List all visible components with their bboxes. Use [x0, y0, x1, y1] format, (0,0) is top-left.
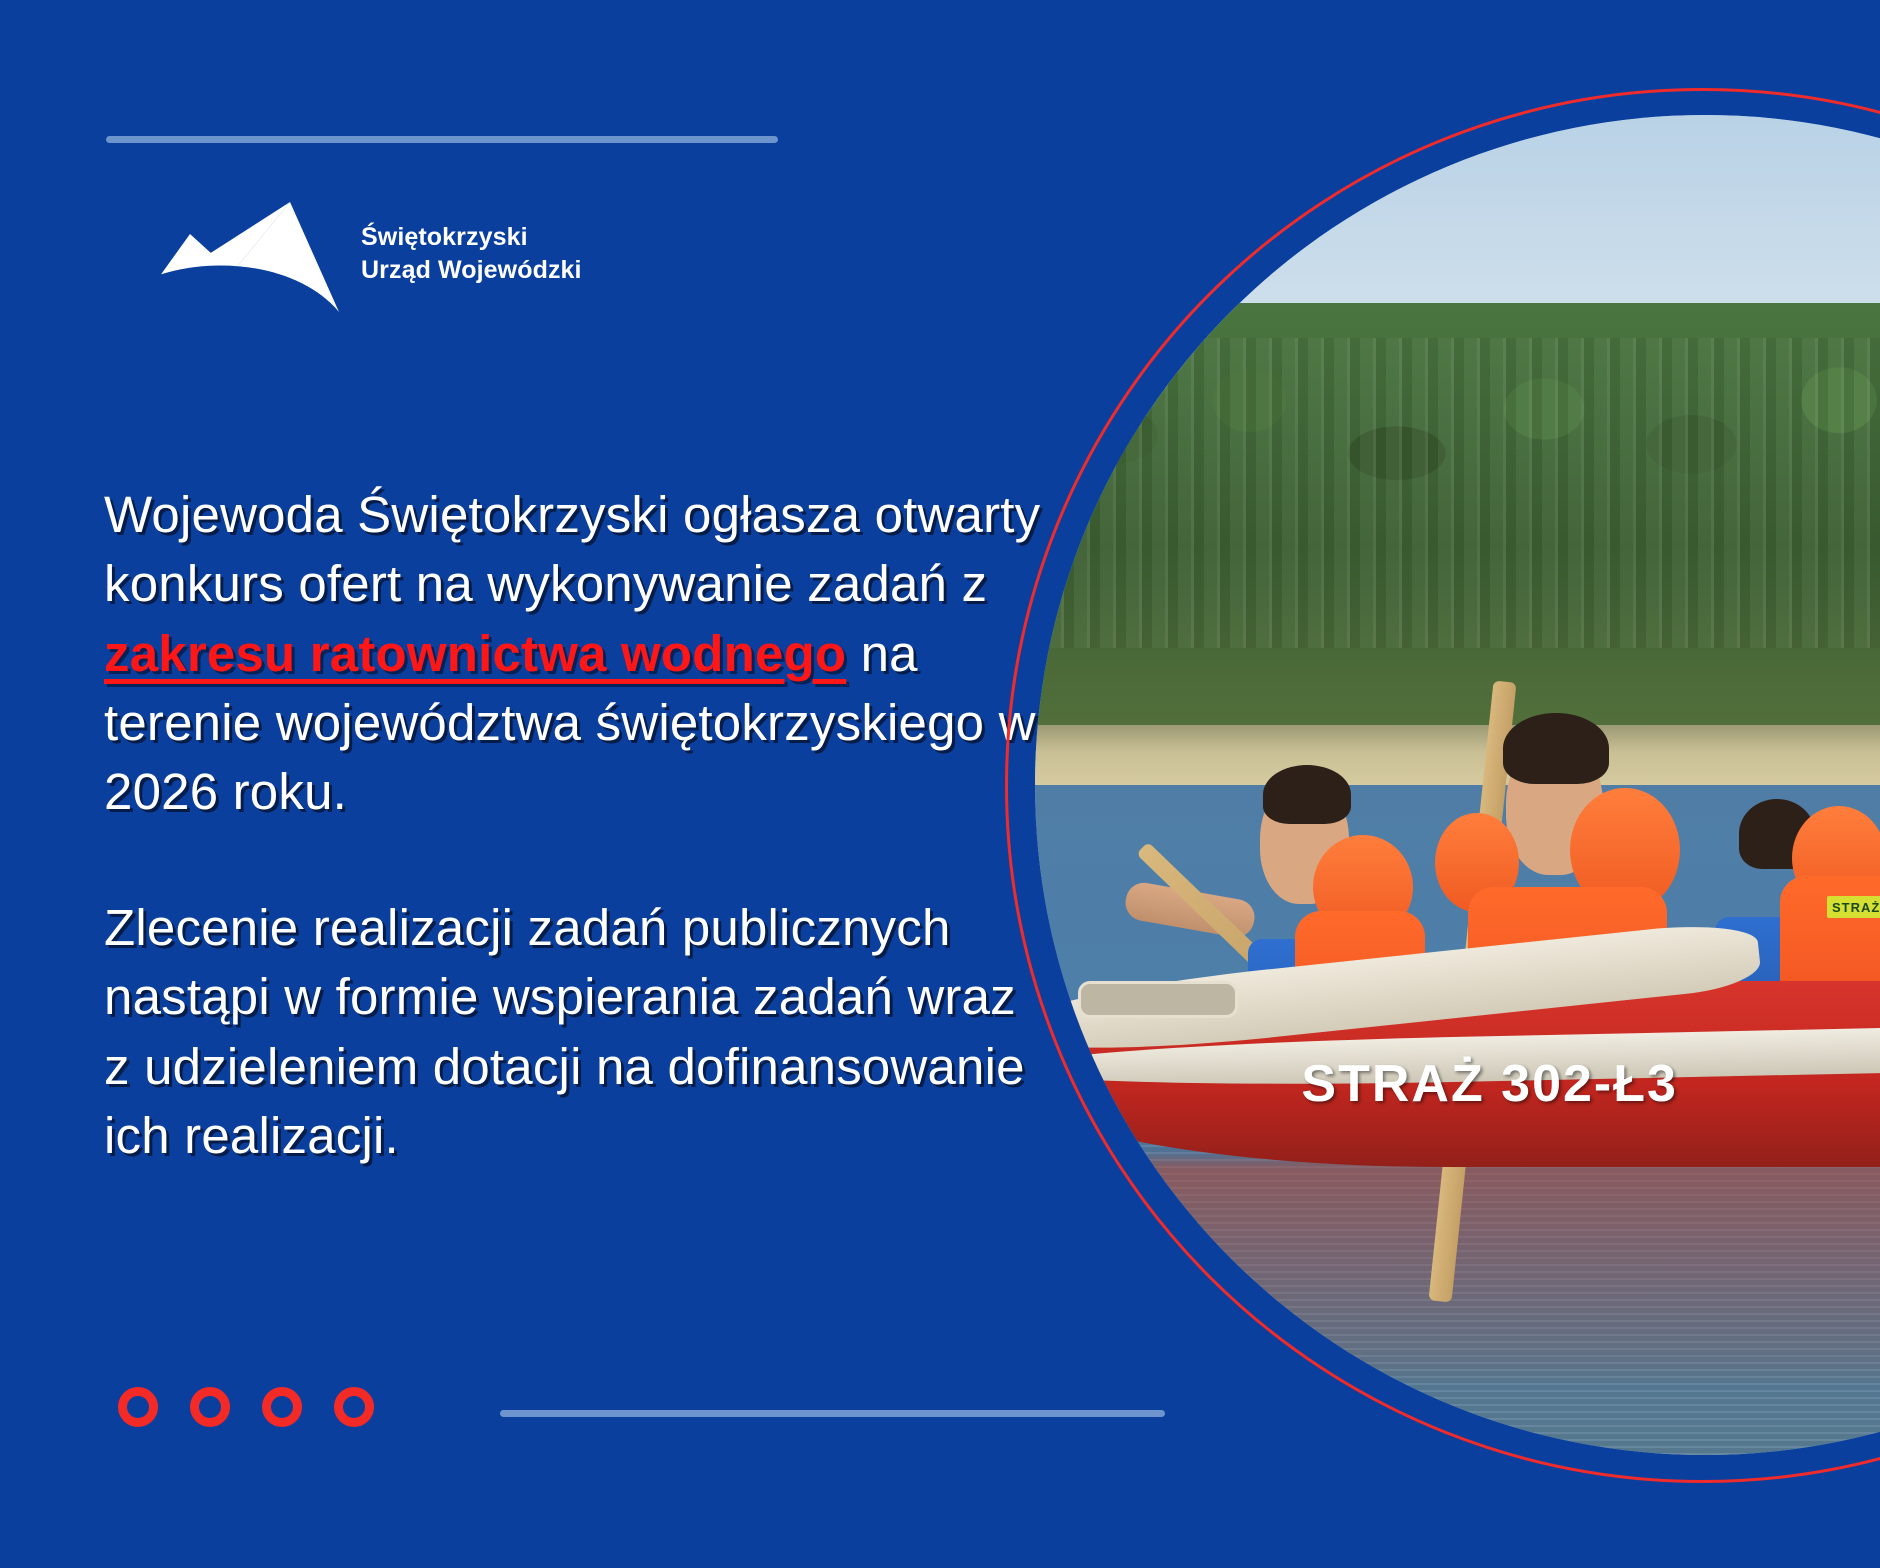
top-rule — [106, 136, 778, 143]
poster-canvas: Świętokrzyski Urząd Wojewódzki Wojewoda … — [0, 0, 1880, 1568]
hair-1 — [1263, 765, 1351, 824]
mountain-peaks-icon — [104, 196, 339, 312]
rescue-boat: STRAŻ 302-Ł3 — [1035, 919, 1880, 1200]
boat-handle — [1078, 981, 1237, 1018]
paragraph-2: Zlecenie realizacji zadań publicznych na… — [104, 893, 1054, 1170]
paragraph-1: Wojewoda Świętokrzyski ogłasza otwarty k… — [104, 480, 1054, 827]
brand-name: Świętokrzyski Urząd Wojewódzki — [361, 221, 582, 287]
brand-logo: Świętokrzyski Urząd Wojewódzki — [104, 196, 582, 312]
dot-3 — [262, 1387, 302, 1427]
dot-1 — [118, 1387, 158, 1427]
highlighted-phrase: zakresu ratownictwa wodnego — [104, 625, 846, 682]
paragraph-1-before: Wojewoda Świętokrzyski ogłasza otwarty k… — [104, 486, 1040, 612]
body-copy: Wojewoda Świętokrzyski ogłasza otwarty k… — [104, 480, 1054, 1170]
rescue-boat-photo: STRAŻ STRAŻ — [1035, 115, 1880, 1455]
dot-4 — [334, 1387, 374, 1427]
decorative-dots — [118, 1387, 374, 1427]
hair-2 — [1503, 713, 1609, 784]
photo-circle: STRAŻ STRAŻ — [1035, 115, 1880, 1455]
boat-label: STRAŻ 302-Ł3 — [1301, 1054, 1678, 1114]
vest-tag-3: STRAŻ — [1827, 896, 1880, 918]
crew-group: STRAŻ STRAŻ — [1035, 115, 1880, 1455]
dot-2 — [190, 1387, 230, 1427]
